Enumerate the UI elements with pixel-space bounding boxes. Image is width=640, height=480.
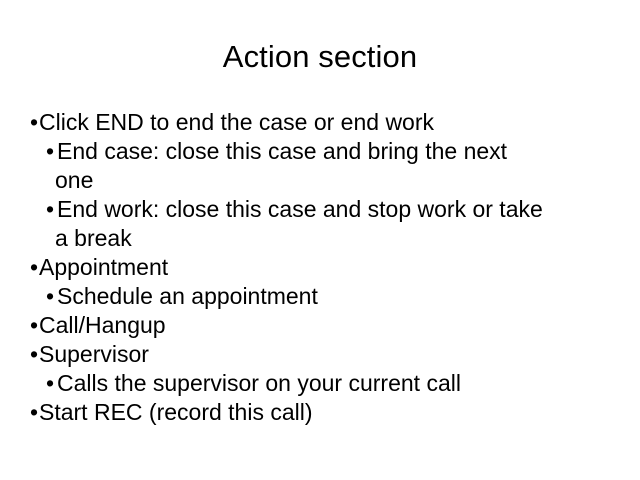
bullet-text: Appointment — [39, 254, 168, 280]
bullet-list: •Click END to end the case or end work•E… — [28, 108, 624, 427]
bullet-item: •Click END to end the case or end work — [28, 108, 624, 137]
bullet-item: •End work: close this case and stop work… — [28, 195, 624, 224]
bullet-icon: • — [46, 282, 54, 311]
bullet-text: Supervisor — [39, 341, 149, 367]
bullet-item: •Call/Hangup — [28, 311, 624, 340]
slide-canvas: Action section •Click END to end the cas… — [0, 0, 640, 480]
bullet-item: •Schedule an appointment — [28, 282, 624, 311]
bullet-text: Click END to end the case or end work — [39, 109, 434, 135]
bullet-text: End case: close this case and bring the … — [57, 138, 507, 164]
page-title: Action section — [0, 38, 640, 76]
bullet-continuation-line: one — [28, 166, 624, 195]
bullet-item: •Supervisor — [28, 340, 624, 369]
bullet-text: one — [55, 167, 93, 193]
bullet-icon: • — [30, 311, 38, 340]
bullet-text: Start REC (record this call) — [39, 399, 313, 425]
bullet-item: •Appointment — [28, 253, 624, 282]
bullet-text: End work: close this case and stop work … — [57, 196, 543, 222]
bullet-icon: • — [30, 253, 38, 282]
bullet-text: a break — [55, 225, 132, 251]
bullet-icon: • — [30, 340, 38, 369]
bullet-icon: • — [46, 137, 54, 166]
bullet-continuation-line: a break — [28, 224, 624, 253]
bullet-icon: • — [46, 369, 54, 398]
bullet-icon: • — [30, 398, 38, 427]
bullet-text: Calls the supervisor on your current cal… — [57, 370, 461, 396]
bullet-text: Schedule an appointment — [57, 283, 318, 309]
bullet-item: •End case: close this case and bring the… — [28, 137, 624, 166]
bullet-text: Call/Hangup — [39, 312, 166, 338]
bullet-icon: • — [30, 108, 38, 137]
bullet-item: •Calls the supervisor on your current ca… — [28, 369, 624, 398]
bullet-icon: • — [46, 195, 54, 224]
bullet-item: •Start REC (record this call) — [28, 398, 624, 427]
